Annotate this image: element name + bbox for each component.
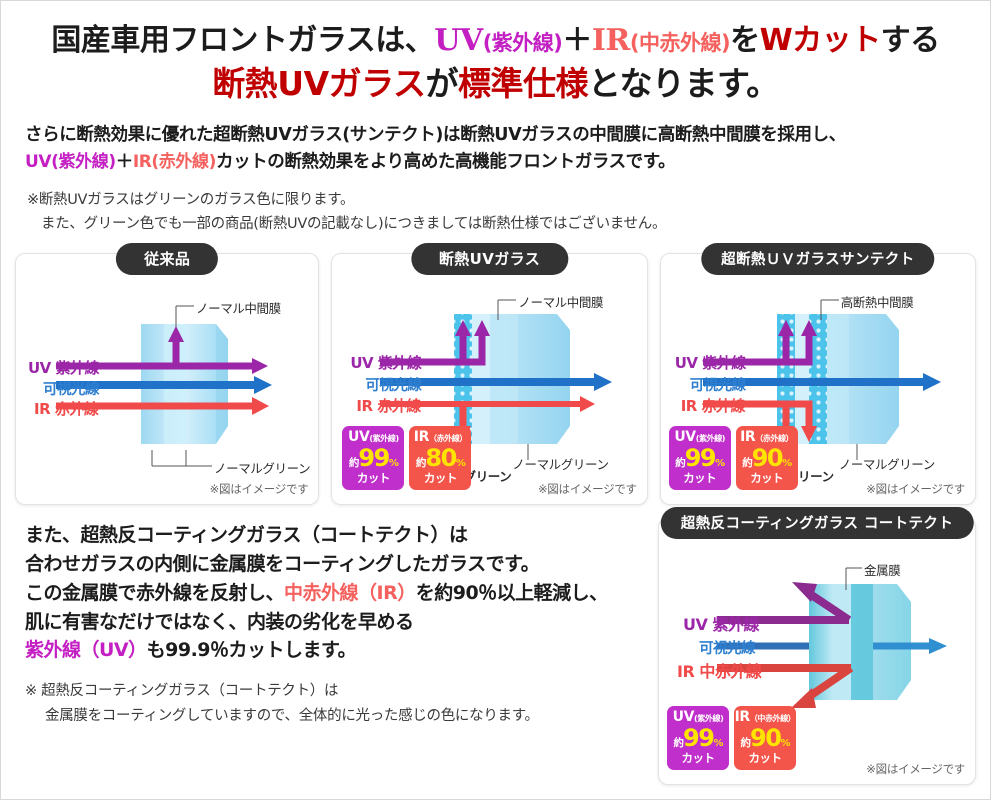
ray-label-vis-coat-tect: 可視光線 [699,637,755,658]
badge-ir-head-paren-coat-tect: （中赤外線） [750,714,796,723]
panel-body-suntect: UV 紫外線 可視光線 IR 赤外線 高断熱中間膜 ノーマルグリーン 断熱UVグ… [661,254,975,504]
bottom-line-4: 肌に有害なだけではなく、内装の劣化を早める [25,608,651,637]
bottom-line-5-uv: 紫外線（UV） [25,639,147,661]
badge-uv-head-coat-tect: UV(紫外線) [667,710,729,724]
badge-ir-pct: % [456,458,465,469]
badge-ir-head-coat-tect: IR（中赤外線） [734,710,796,724]
ray-label-ir-suntect: IR 赤外線 [681,395,745,416]
badge-uv-cut-heat-insulating: UV(紫外線) 約99% カット [342,426,404,490]
panel-conventional: 従来品 [15,253,319,505]
bottom-line-1: また、超熱反コーティングガラス（コートテクト）は [25,521,651,550]
badge-ir-yaku-suntect: 約 [742,457,752,469]
panel-body-heat-insulating-uv: UV 紫外線 可視光線 IR 赤外線 ノーマル中間膜 ノーマルグリーン 断熱UV… [332,254,646,504]
title-text-1: 国産車用フロントガラスは、 [51,23,434,58]
bottom-line-3-ir: 中赤外線（IR） [284,582,416,604]
title-plus: ＋ [562,23,592,58]
ray-label-uv-suntect: UV 紫外線 [675,352,746,373]
badge-ir-foot: カット [409,473,471,485]
badge-uv-head-paren: (紫外線) [369,434,398,443]
ray-label-vis-suntect: 可視光線 [690,374,746,395]
badge-ir-cut-heat-insulating: IR（赤外線） 約80% カット [409,426,471,490]
image-note-heat-insulating: ※図はイメージです [538,481,637,497]
callout-metal-film-coat-tect: 金属膜 [864,560,900,579]
badge-uv-foot: カット [342,473,404,485]
title-narimasu: となります。 [588,64,779,103]
badge-ir-value-suntect: 約90% [736,446,798,470]
badge-ir-yaku-coat-tect: 約 [741,737,751,749]
title-wcut: Wカット [760,23,881,58]
coat-tect-description: また、超熱反コーティングガラス（コートテクト）は 合わせガラスの内側に金属膜をコ… [1,519,651,729]
badge-uv-head-text: UV [348,429,369,445]
title-ir: IR [592,23,630,58]
badge-ir-foot-coat-tect: カット [734,753,796,765]
bottom-line-3a: この金属膜で赤外線を反射し、 [25,582,284,604]
top-note-1: ※断熱UVガラスはグリーンのガラス色に限ります。 [27,192,354,208]
title-line-1: 国産車用フロントガラスは、UV(紫外線)＋IR(中赤外線)をWカットする [1,23,990,60]
lead-line-2: UV(紫外線)＋IR(赤外線)カットの断熱効果をより高めた高機能フロントガラスで… [25,149,968,176]
callout-green-conventional: ノーマルグリーン [214,458,310,477]
badge-ir-head-text-coat-tect: IR [735,709,750,725]
title-uv-paren: (紫外線) [483,31,563,55]
badge-ir-num-coat-tect: 90 [750,724,780,752]
badge-uv-num: 99 [358,444,388,472]
bottom-line-3: この金属膜で赤外線を反射し、中赤外線（IR）を約90％以上軽減し、 [25,579,651,608]
badge-uv-pct: % [389,458,398,469]
image-note-coat-tect: ※図はイメージです [866,761,965,777]
panel-suntect: 超断熱ＵＶガラスサンテクト [660,253,976,505]
infographic-page: 国産車用フロントガラスは、UV(紫外線)＋IR(中赤外線)をWカットする 断熱U… [0,0,991,800]
callout-interlayer-conventional: ノーマル中間膜 [196,298,281,317]
badge-ir-head-text: IR [414,429,429,445]
ray-label-vis-conventional: 可視光線 [43,378,99,399]
badge-ir-head: IR（赤外線） [409,430,471,444]
badge-uv-num-suntect: 99 [685,444,715,472]
badge-uv-head-text-coat-tect: UV [673,709,694,725]
callout-normal-green-suntect: ノーマルグリーン [839,454,935,473]
badge-uv-value-suntect: 約99% [669,446,731,470]
ray-label-uv-conventional: UV 紫外線 [28,357,99,378]
lead-ir: IR(赤外線) [133,152,216,172]
badge-ir-head-text-suntect: IR [740,429,755,445]
bottom-notes: ※ 超熱反コーティングガラス（コートテクト）は 金属膜をコーティングしていますの… [25,679,651,728]
lead-plus: ＋ [116,152,133,172]
badge-uv-head-paren-coat-tect: (紫外線) [694,714,723,723]
badge-uv-num-coat-tect: 99 [683,724,713,752]
ray-label-ir-coat-tect: IR 中赤外線 [677,658,761,682]
badge-uv-yaku-coat-tect: 約 [674,737,684,749]
ray-label-ir-conventional: IR 赤外線 [34,398,98,419]
title-line-2: 断熱UVガラスが標準仕様となります。 [1,64,990,104]
panel-body-conventional: UV 紫外線 可視光線 IR 赤外線 ノーマル中間膜 ノーマルグリーン ※図はイ… [16,254,318,504]
bottom-line-5b: も99.9％カットします。 [147,639,356,661]
top-notes: ※断熱UVガラスはグリーンのガラス色に限ります。 また、グリーン色でも一部の商品… [27,189,966,237]
bottom-line-3b: を約90％以上軽減し、 [416,582,608,604]
lead-uv: UV(紫外線) [25,152,116,172]
badge-ir-value: 約80% [409,446,471,470]
lead-paragraph: さらに断熱効果に優れた超断熱UVガラス(サンテクト)は断熱UVガラスの中間膜に高… [25,122,968,176]
title-standard: 標準仕様 [458,64,588,103]
badge-ir-yaku: 約 [416,457,426,469]
badges-coat-tect: UV(紫外線) 約99% カット IR（中赤外線） 約90% カット [667,706,796,770]
badge-ir-num: 80 [425,444,455,472]
comparison-panels: 従来品 [15,253,976,505]
badge-uv-head-suntect: UV(紫外線) [669,430,731,444]
bottom-note-1: ※ 超熱反コーティングガラス（コートテクト）は [25,683,338,699]
ray-label-ir-heat-insulating: IR 赤外線 [356,395,420,416]
title-suru: する [881,23,940,58]
callout-interlayer-heat-insulating: ノーマル中間膜 [518,292,603,311]
title-wo: を [730,23,760,58]
bottom-line-2: 合わせガラスの内側に金属膜をコーティングしたガラスです。 [25,550,651,579]
title-ir-paren: (中赤外線) [630,31,730,55]
badges-heat-insulating: UV(紫外線) 約99% カット IR（赤外線） 約80% カット [342,426,471,490]
bottom-section: また、超熱反コーティングガラス（コートテクト）は 合わせガラスの内側に金属膜をコ… [1,519,990,729]
image-note-suntect: ※図はイメージです [866,481,965,497]
badge-uv-value-coat-tect: 約99% [667,726,729,750]
badge-uv-value: 約99% [342,446,404,470]
badge-ir-cut-suntect: IR（赤外線） 約90% カット [736,426,798,490]
badge-ir-head-paren-suntect: （赤外線） [755,434,793,443]
ray-label-uv-coat-tect: UV 紫外線 [683,611,759,635]
badge-uv-cut-suntect: UV(紫外線) 約99% カット [669,426,731,490]
badge-uv-pct-coat-tect: % [713,738,722,749]
badge-uv-foot-suntect: カット [669,473,731,485]
bottom-note-2: 金属膜をコーティングしていますので、全体的に光った感じの色になります。 [25,704,651,729]
ray-label-vis-heat-insulating: 可視光線 [365,374,421,395]
panel-coat-tect: 超熱反コーティングガラス コートテクト [658,517,976,785]
ray-label-uv-heat-insulating: UV 紫外線 [350,352,421,373]
badge-ir-value-coat-tect: 約90% [734,726,796,750]
badges-suntect: UV(紫外線) 約99% カット IR（赤外線） 約90% カット [669,426,798,490]
page-title: 国産車用フロントガラスは、UV(紫外線)＋IR(中赤外線)をWカットする 断熱U… [1,1,990,108]
callout-interlayer-suntect: 高断熱中間膜 [841,292,914,311]
badge-uv-foot-coat-tect: カット [667,753,729,765]
panel-heat-insulating-uv: 断熱UVガラス [331,253,647,505]
badge-uv-head-paren-suntect: (紫外線) [696,434,725,443]
top-note-2: また、グリーン色でも一部の商品(断熱UVの記載なし)につきましては断熱仕様ではご… [27,213,966,237]
bottom-line-5: 紫外線（UV）も99.9％カットします。 [25,636,651,665]
badge-ir-pct-coat-tect: % [780,738,789,749]
title-uv: UV [434,23,482,58]
title-ga: が [425,64,458,103]
badge-ir-head-suntect: IR（赤外線） [736,430,798,444]
badge-uv-yaku: 約 [349,457,359,469]
title-product: 断熱UVガラス [212,64,425,103]
badge-ir-cut-coat-tect: IR（中赤外線） 約90% カット [734,706,796,770]
image-note-conventional: ※図はイメージです [210,481,309,497]
callout-normal-green-heat-insulating: ノーマルグリーン [512,454,608,473]
lead-rest: カットの断熱効果をより高めた高機能フロントガラスです。 [216,152,675,172]
badge-uv-head-text-suntect: UV [674,429,695,445]
badge-ir-foot-suntect: カット [736,473,798,485]
badge-uv-yaku-suntect: 約 [675,457,685,469]
badge-ir-head-paren: （赤外線） [429,434,467,443]
panel-body-coat-tect: UV 紫外線 可視光線 IR 中赤外線 金属膜 UV(紫外線) 約99% カット… [659,518,975,784]
badge-ir-num-suntect: 90 [752,444,782,472]
badge-uv-head: UV(紫外線) [342,430,404,444]
lead-line-1: さらに断熱効果に優れた超断熱UVガラス(サンテクト)は断熱UVガラスの中間膜に高… [25,122,968,149]
badge-uv-cut-coat-tect: UV(紫外線) 約99% カット [667,706,729,770]
badge-uv-pct-suntect: % [715,458,724,469]
badge-ir-pct-suntect: % [782,458,791,469]
